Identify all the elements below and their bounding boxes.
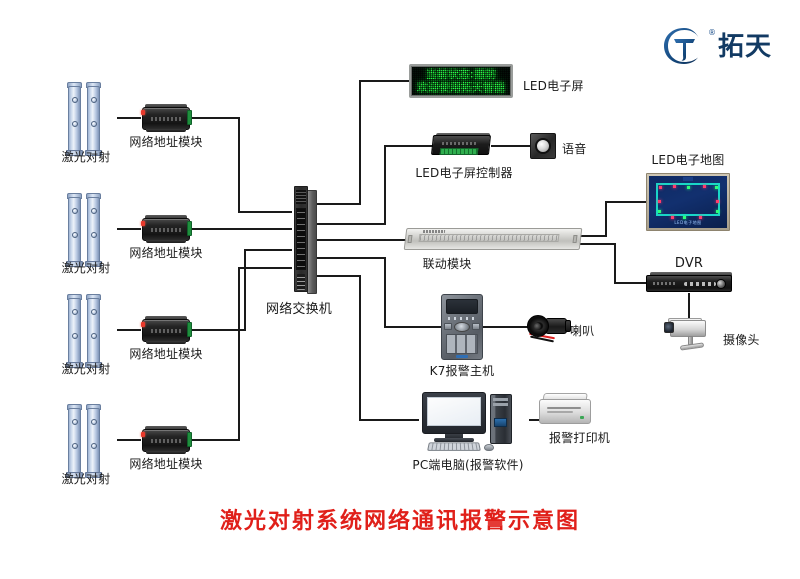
laser2-label: 激光对射 xyxy=(62,259,111,276)
voice-module-icon xyxy=(530,133,556,159)
network-address-module-icon xyxy=(142,104,190,132)
desktop-computer-icon xyxy=(418,392,530,448)
led-screen-line1: 当前状态:撤防 xyxy=(412,68,510,81)
printer-label: 报警打印机 xyxy=(549,429,610,446)
laser-beam-detector-icon xyxy=(66,193,106,267)
horn-speaker-icon xyxy=(527,313,575,343)
laser1-label: 激光对射 xyxy=(62,148,111,165)
dvr-label: DVR xyxy=(675,256,703,271)
led-map-icon: LED电子地图 xyxy=(646,173,730,231)
camera-icon xyxy=(662,318,718,350)
ledmap-label: LED电子地图 xyxy=(652,151,725,168)
ledctl-label: LED电子屏控制器 xyxy=(415,164,512,181)
pc-label: PC端电脑(报警软件) xyxy=(412,456,523,473)
nam3-label: 网络地址模块 xyxy=(129,345,202,362)
laser4-label: 激光对射 xyxy=(62,470,111,487)
led-screen-label: LED电子屏 xyxy=(523,77,584,94)
tuotian-logo-icon xyxy=(662,26,706,66)
alarm-host-icon xyxy=(441,294,483,360)
page-title: 激光对射系统网络通讯报警示意图 xyxy=(220,503,580,535)
led-display-screen: 当前状态:撤防 欢迎使用拓天智能 xyxy=(409,64,513,98)
k7-label: K7报警主机 xyxy=(430,362,495,379)
laser3-label: 激光对射 xyxy=(62,360,111,377)
network-address-module-icon xyxy=(142,426,190,454)
alarm-printer-icon xyxy=(539,393,591,427)
brand-logo: ® 拓天 xyxy=(662,26,792,70)
network-address-module-icon xyxy=(142,316,190,344)
registered-mark: ® xyxy=(708,28,716,37)
network-switch-icon xyxy=(291,186,317,294)
switch-label: 网络交换机 xyxy=(266,298,332,317)
nam2-label: 网络地址模块 xyxy=(129,244,202,261)
nam4-label: 网络地址模块 xyxy=(129,455,202,472)
laser-beam-detector-icon xyxy=(66,404,106,478)
nam1-label: 网络地址模块 xyxy=(129,133,202,150)
linkage-module-icon xyxy=(405,228,581,250)
horn-label: 喇叭 xyxy=(570,322,594,339)
voice-label: 语音 xyxy=(562,140,586,157)
laser-beam-detector-icon xyxy=(66,294,106,368)
led-controller-icon xyxy=(432,133,492,159)
brand-name: 拓天 xyxy=(718,32,772,62)
link-label: 联动模块 xyxy=(423,255,472,272)
dvr-icon xyxy=(646,272,732,294)
led-screen-line2: 欢迎使用拓天智能 xyxy=(412,81,510,94)
laser-beam-detector-icon xyxy=(66,82,106,156)
network-address-module-icon xyxy=(142,215,190,243)
camera-label: 摄像头 xyxy=(723,331,760,348)
